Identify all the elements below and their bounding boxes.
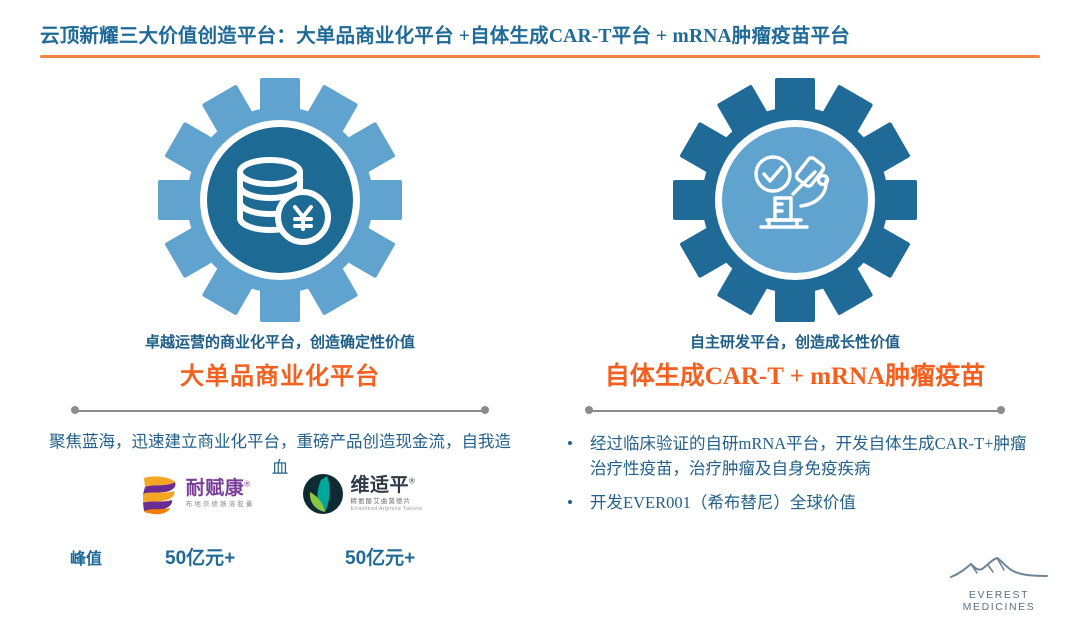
column-commercialization: 卓越运营的商业化平台，创造确定性价值 大单品商业化平台 聚焦蓝海，迅速建立商业化… <box>45 74 515 481</box>
list-item: 开发EVER001（希布替尼）全球价值 <box>560 490 1030 515</box>
naifukang-name: 耐赋康® <box>186 479 255 498</box>
left-divider <box>71 406 489 415</box>
bullet-text: 经过临床验证的自研mRNA平台，开发自体生成CAR-T+肿瘤治疗性疫苗，治疗肿瘤… <box>590 434 1026 478</box>
peak-value-row: 峰值 50亿元+ 50亿元+ <box>45 543 515 573</box>
left-kicker-text: 卓越运营的商业化平台，创造确定性价值 <box>45 332 515 354</box>
peak-label: 峰值 <box>70 545 102 569</box>
right-headline: 自体生成CAR-T + mRNA肿瘤疫苗 <box>560 362 1030 392</box>
peak-value-weishiping: 50亿元+ <box>345 543 415 570</box>
page-title: 云顶新耀三大价值创造平台：大单品商业化平台 +自体生成CAR-T平台 + mRN… <box>40 24 1040 50</box>
title-block: 云顶新耀三大价值创造平台：大单品商业化平台 +自体生成CAR-T平台 + mRN… <box>40 24 1040 58</box>
slide-root: 云顶新耀三大价值创造平台：大单品商业化平台 +自体生成CAR-T平台 + mRN… <box>0 0 1080 623</box>
column-rnd: 自主研发平台，创造成长性价值 自体生成CAR-T + mRNA肿瘤疫苗 经过临床… <box>560 74 1030 524</box>
right-bullet-list: 经过临床验证的自研mRNA平台，开发自体生成CAR-T+肿瘤治疗性疫苗，治疗肿瘤… <box>560 431 1030 515</box>
product-logo-weishiping: 维适平® 精氨酸艾曲莫德片 Etrasimod Arginine Tablets <box>301 472 423 516</box>
divider-line <box>75 410 485 412</box>
divider-dot-right <box>481 406 489 414</box>
divider-line <box>589 410 1001 412</box>
gear-microscope-icon <box>669 74 921 326</box>
gear-coins-icon-zone <box>45 74 515 336</box>
weishiping-subtitle-en: Etrasimod Arginine Tablets <box>351 507 423 512</box>
divider-dot-right <box>997 406 1005 414</box>
weishiping-name: 维适平® <box>351 476 423 495</box>
product-logo-naifukang: 耐赋康® 布地奈德肠溶胶囊 <box>138 472 255 516</box>
gear-microscope-icon-zone <box>560 74 1030 336</box>
corporate-logo: EVEREST MEDICINES <box>934 556 1064 613</box>
right-divider <box>585 406 1005 415</box>
bullet-dot-icon <box>568 500 572 504</box>
bullet-text: 开发EVER001（希布替尼）全球价值 <box>590 493 856 512</box>
peak-value-naifukang: 50亿元+ <box>165 543 235 570</box>
naifukang-subtitle: 布地奈德肠溶胶囊 <box>186 502 255 508</box>
product-logo-row: 耐赋康® 布地奈德肠溶胶囊 维适平® 精氨酸艾曲莫德片 Etrasimod Ar… <box>45 472 515 516</box>
weishiping-leaf-icon <box>301 472 345 516</box>
right-kicker-text: 自主研发平台，创造成长性价值 <box>560 332 1030 354</box>
naifukang-swirl-icon <box>138 472 180 516</box>
registered-mark: ® <box>244 480 250 489</box>
left-headline: 大单品商业化平台 <box>45 362 515 392</box>
bullet-dot-icon <box>568 441 572 445</box>
mountain-range-icon <box>947 556 1051 582</box>
title-underline-rule <box>40 55 1040 58</box>
weishiping-subtitle: 精氨酸艾曲莫德片 <box>351 499 423 505</box>
corporate-name: EVEREST MEDICINES <box>934 589 1064 613</box>
registered-mark: ® <box>409 476 415 485</box>
gear-coins-icon <box>154 74 406 326</box>
weishiping-text-block: 维适平® 精氨酸艾曲莫德片 Etrasimod Arginine Tablets <box>351 476 423 513</box>
naifukang-text-block: 耐赋康® 布地奈德肠溶胶囊 <box>186 479 255 508</box>
list-item: 经过临床验证的自研mRNA平台，开发自体生成CAR-T+肿瘤治疗性疫苗，治疗肿瘤… <box>560 431 1030 481</box>
